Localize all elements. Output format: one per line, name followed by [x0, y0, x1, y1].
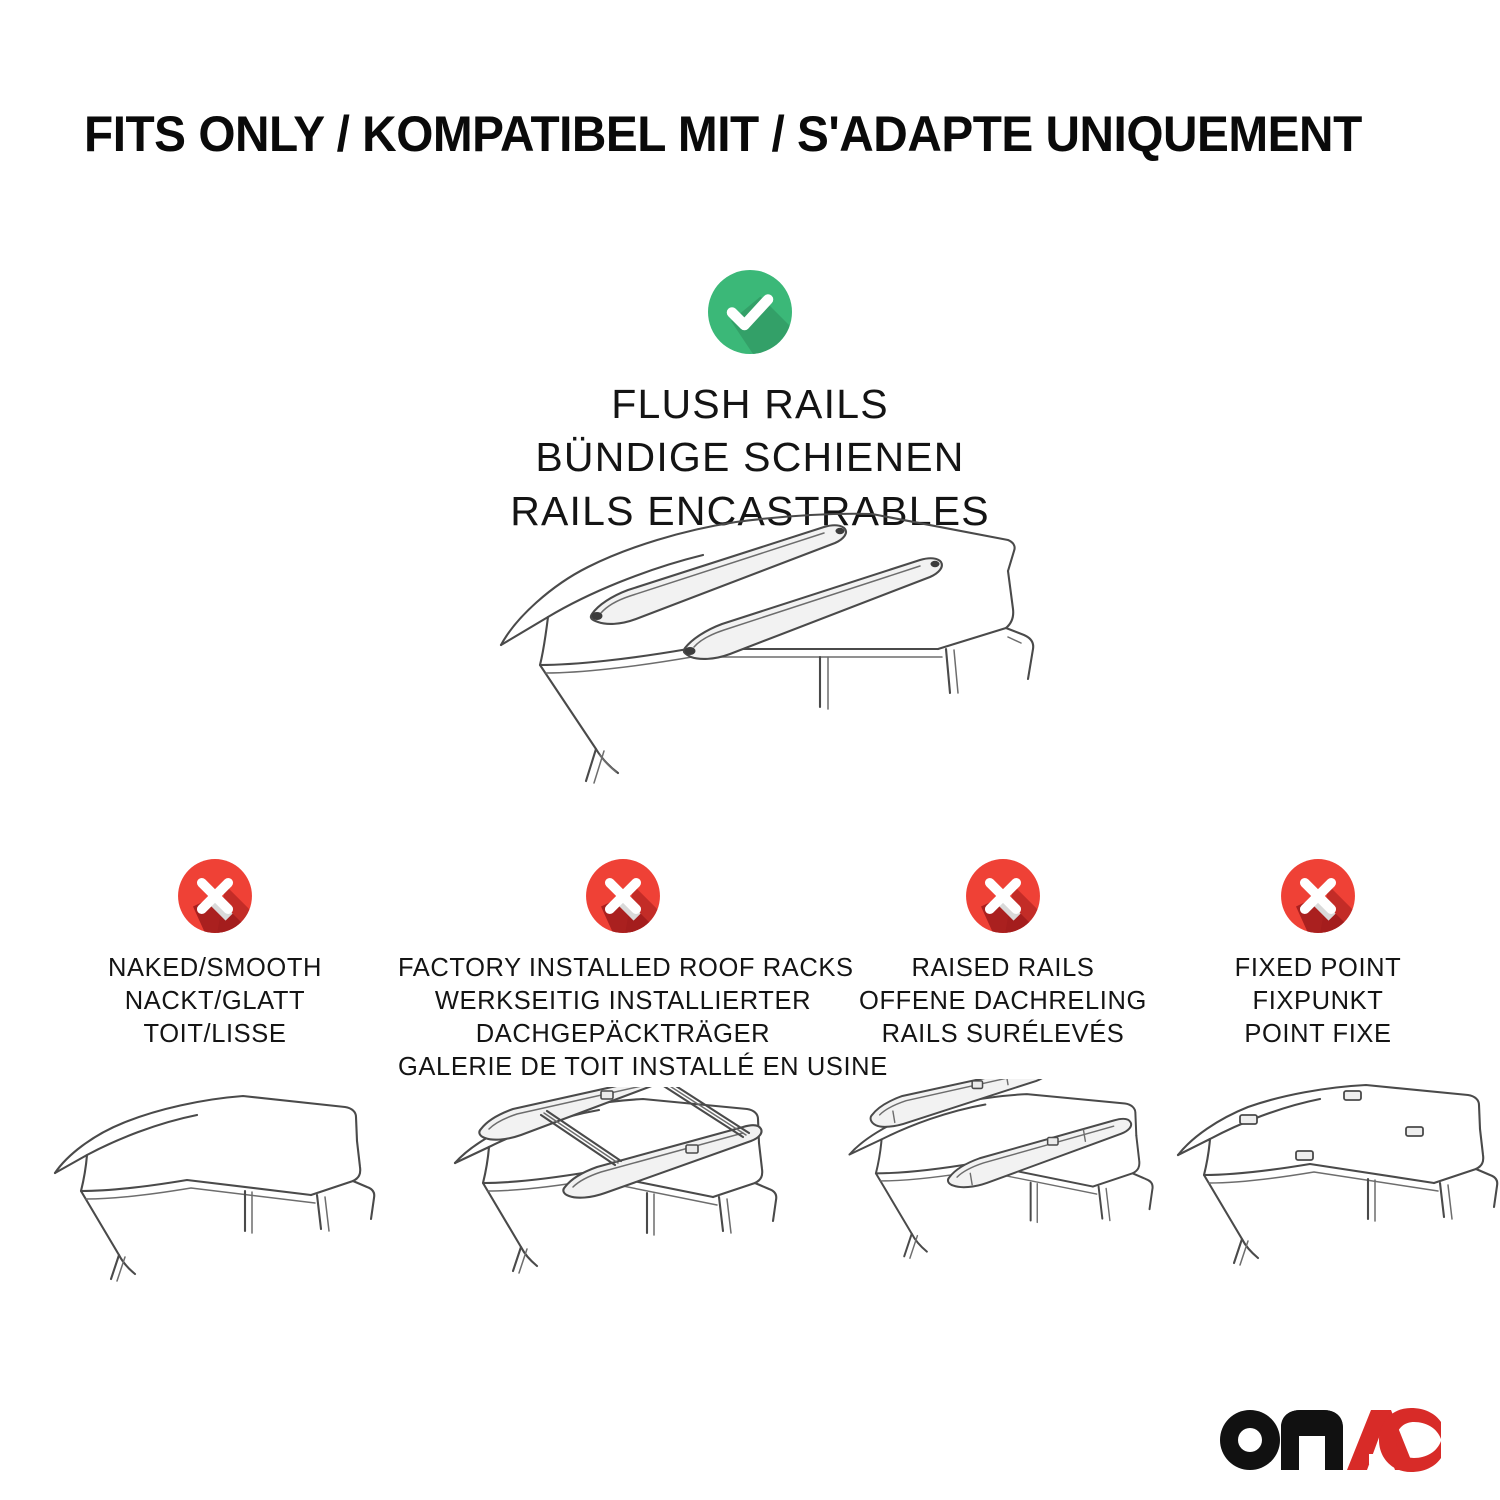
red-x-icon: [959, 852, 1047, 940]
red-x-icon: [1274, 852, 1362, 940]
logo-letter-o: [1220, 1410, 1280, 1470]
label-line-en: FIXED POINT: [1168, 952, 1468, 985]
label-line-de: OFFENE DACHRELING: [838, 985, 1168, 1018]
label-line-en: FACTORY INSTALLED ROOF RACKS: [398, 952, 848, 985]
label-line-de: FIXPUNKT: [1168, 985, 1468, 1018]
page-title: FITS ONLY / KOMPATIBEL MIT / S'ADAPTE UN…: [84, 108, 1364, 161]
label-line-de-1: WERKSEITIG INSTALLIERTER: [398, 985, 848, 1018]
incompatible-item-fixed-point: FIXED POINT FIXPUNKT POINT FIXE: [1168, 852, 1468, 1309]
incompatible-label-raised-rails: RAISED RAILS OFFENE DACHRELING RAILS SUR…: [838, 952, 1168, 1051]
red-x-icon: [579, 852, 667, 940]
car-roof-factory-racks-illustration: [398, 1087, 848, 1317]
label-line-de-2: DACHGEPÄCKTRÄGER: [398, 1018, 848, 1051]
incompatible-item-naked-smooth: NAKED/SMOOTH NACKT/GLATT TOIT/LISSE: [40, 852, 390, 1309]
compatible-heading-line-de: BÜNDIGE SCHIENEN: [0, 431, 1500, 484]
label-line-de: NACKT/GLATT: [40, 985, 390, 1018]
car-roof-fixed-point-illustration: [1168, 1079, 1468, 1309]
omac-logo: [1219, 1406, 1441, 1474]
incompatible-section: NAKED/SMOOTH NACKT/GLATT TOIT/LISSE: [0, 852, 1500, 1492]
car-roof-naked-smooth-illustration: [40, 1079, 390, 1309]
car-roof-raised-rails-illustration: [838, 1079, 1168, 1296]
label-line-fr: TOIT/LISSE: [40, 1018, 390, 1051]
logo-letter-c: [1379, 1408, 1441, 1472]
incompatible-label-fixed-point: FIXED POINT FIXPUNKT POINT FIXE: [1168, 952, 1468, 1051]
label-line-fr: RAILS SURÉLEVÉS: [838, 1018, 1168, 1051]
label-line-fr: POINT FIXE: [1168, 1018, 1468, 1051]
incompatible-label-naked-smooth: NAKED/SMOOTH NACKT/GLATT TOIT/LISSE: [40, 952, 390, 1051]
label-line-en: RAISED RAILS: [838, 952, 1168, 985]
incompatible-label-factory-racks: FACTORY INSTALLED ROOF RACKS WERKSEITIG …: [398, 952, 848, 1085]
red-x-icon: [171, 852, 259, 940]
label-line-fr: GALERIE DE TOIT INSTALLÉ EN USINE: [398, 1051, 848, 1084]
car-roof-flush-rails-illustration: [468, 497, 1046, 802]
incompatible-item-factory-racks: FACTORY INSTALLED ROOF RACKS WERKSEITIG …: [398, 852, 848, 1317]
label-line-en: NAKED/SMOOTH: [40, 952, 390, 985]
logo-letter-m: [1281, 1410, 1343, 1470]
compatible-heading-line-en: FLUSH RAILS: [0, 378, 1500, 431]
green-check-icon: [700, 262, 800, 362]
incompatible-item-raised-rails: RAISED RAILS OFFENE DACHRELING RAILS SUR…: [838, 852, 1168, 1296]
